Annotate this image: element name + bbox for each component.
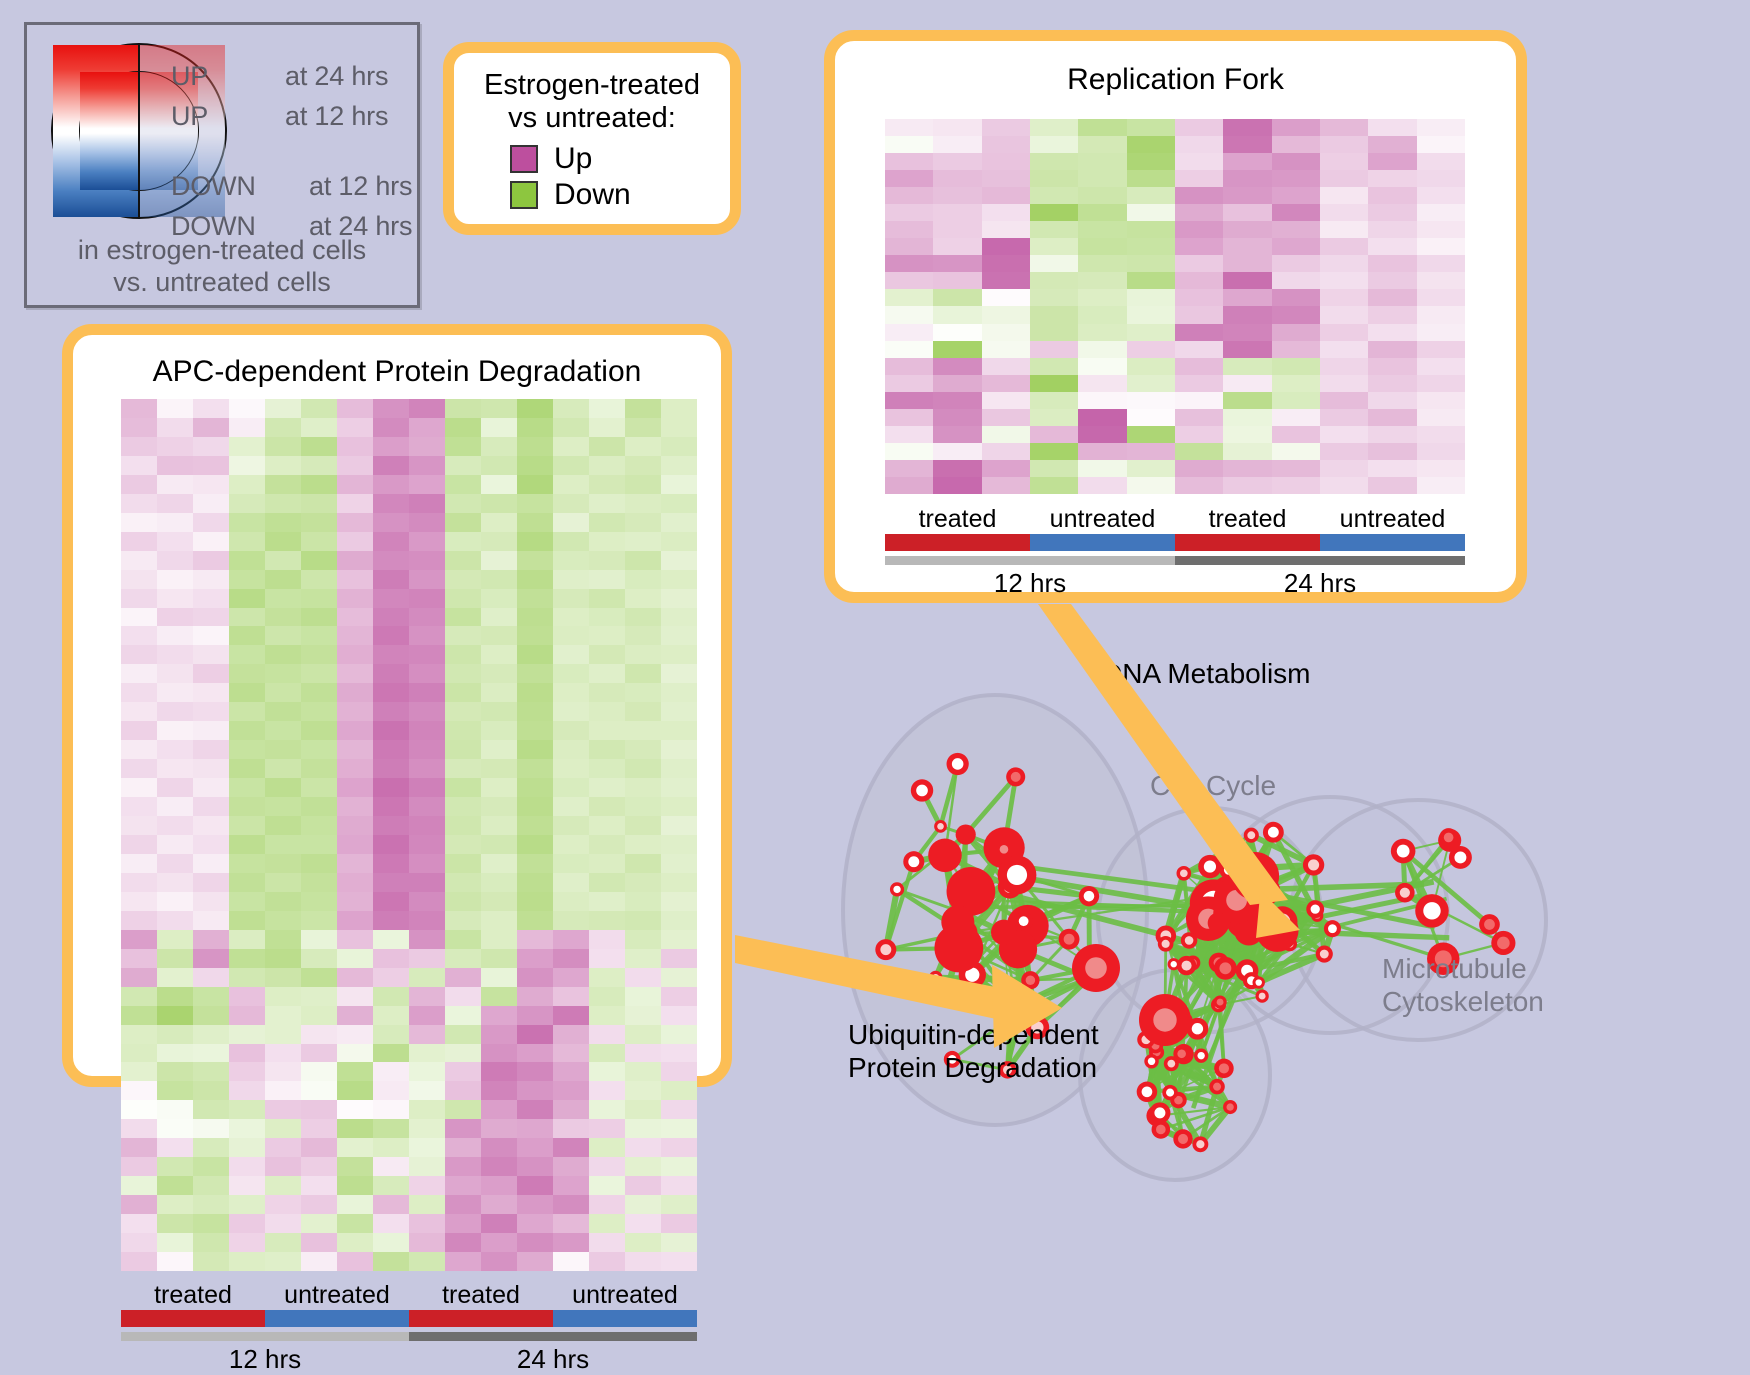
- heatmap-cell: [933, 426, 981, 443]
- heatmap-cell: [193, 1025, 229, 1044]
- heatmap-cell: [517, 740, 553, 759]
- heatmap-cell: [337, 1214, 373, 1233]
- heatmap-cell: [1078, 153, 1126, 170]
- heatmap-cell: [337, 835, 373, 854]
- heatmap-cell: [301, 1119, 337, 1138]
- heatmap-cell: [589, 532, 625, 551]
- heatmap-cell: [1175, 426, 1223, 443]
- heatmap-cell: [481, 702, 517, 721]
- heatmap-cell: [933, 221, 981, 238]
- heatmap-cell: [121, 570, 157, 589]
- heatmap-cell: [661, 1252, 697, 1271]
- heatmap-cell: [193, 1176, 229, 1195]
- heatmap-cell: [625, 778, 661, 797]
- heatmap-cell: [301, 608, 337, 627]
- heatmap-cell: [445, 1119, 481, 1138]
- heatmap-cell: [337, 1138, 373, 1157]
- heatmap-cell: [265, 494, 301, 513]
- heatmap-cell: [625, 664, 661, 683]
- heatmap-cell: [229, 456, 265, 475]
- heatmap-cell: [301, 437, 337, 456]
- heatmap-cell: [1223, 238, 1271, 255]
- heatmap-cell: [445, 949, 481, 968]
- heatmap-cell: [661, 570, 697, 589]
- heatmap-cell: [157, 532, 193, 551]
- axis-group-label: untreated: [265, 1281, 409, 1310]
- ub-line1: Ubiquitin-dependent: [848, 1018, 1099, 1051]
- heatmap-cell: [553, 513, 589, 532]
- heatmap-cell: [553, 1100, 589, 1119]
- heatmap-cell: [589, 1006, 625, 1025]
- heatmap-cell: [553, 437, 589, 456]
- heatmap-cell: [553, 930, 589, 949]
- heatmap-cell: [1320, 289, 1368, 306]
- heatmap-cell: [229, 702, 265, 721]
- heatmap-cell: [337, 1044, 373, 1063]
- heatmap-cell: [661, 1195, 697, 1214]
- heatmap-cell: [337, 1062, 373, 1081]
- heatmap-cell: [589, 664, 625, 683]
- heatmap-cell: [337, 532, 373, 551]
- heatmap-cell: [1417, 477, 1465, 494]
- heatmap-cell: [409, 873, 445, 892]
- wheel-legend-footer: in estrogen-treated cells vs. untreated …: [27, 235, 417, 299]
- heatmap-cell: [229, 949, 265, 968]
- heatmap-cell: [445, 570, 481, 589]
- heatmap-cell: [589, 1062, 625, 1081]
- heatmap-cell: [121, 721, 157, 740]
- heatmap-cell: [1417, 238, 1465, 255]
- heatmap-cell: [982, 392, 1030, 409]
- heatmap-cell: [1368, 341, 1416, 358]
- heatmap-cell: [301, 854, 337, 873]
- heatmap-cell: [589, 759, 625, 778]
- treatment-bar-segment: [1175, 534, 1320, 551]
- heatmap-cell: [373, 589, 409, 608]
- heatmap-cell: [193, 1214, 229, 1233]
- heatmap-cell: [121, 816, 157, 835]
- heatmap-cell: [553, 702, 589, 721]
- heatmap-cell: [1078, 375, 1126, 392]
- heatmap-cell: [445, 437, 481, 456]
- heatmap-cell: [517, 759, 553, 778]
- heatmap-cell: [301, 513, 337, 532]
- heatmap-cell: [1417, 324, 1465, 341]
- heatmap-cell: [409, 702, 445, 721]
- heatmap-cell: [409, 1044, 445, 1063]
- heatmap-cell: [121, 1119, 157, 1138]
- heatmap-cell: [625, 816, 661, 835]
- heatmap-cell: [121, 1062, 157, 1081]
- heatmap-cell: [481, 475, 517, 494]
- heatmap-cell: [481, 1025, 517, 1044]
- wheel-direction: UP: [171, 101, 208, 131]
- heatmap-cell: [301, 949, 337, 968]
- heatmap-cell: [193, 399, 229, 418]
- heatmap-cell: [445, 645, 481, 664]
- heatmap-cell: [301, 1138, 337, 1157]
- heatmap-cell: [1078, 255, 1126, 272]
- heatmap-cell: [301, 570, 337, 589]
- heatmap-cell: [409, 835, 445, 854]
- heatmap-cell: [661, 589, 697, 608]
- heatmap-cell: [661, 437, 697, 456]
- heatmap-cell: [517, 797, 553, 816]
- heatmap-cell: [265, 1252, 301, 1271]
- heatmap-cell: [517, 1157, 553, 1176]
- heatmap-cell: [157, 418, 193, 437]
- heatmap-cell: [1320, 204, 1368, 221]
- heatmap-cell: [661, 778, 697, 797]
- heatmap-cell: [553, 797, 589, 816]
- heatmap-cell: [373, 721, 409, 740]
- heatmap-cell: [1320, 221, 1368, 238]
- heatmap-cell: [553, 1044, 589, 1063]
- heatmap-cell: [625, 551, 661, 570]
- heatmap-cell: [373, 759, 409, 778]
- wheel-divider: [138, 43, 140, 219]
- heatmap-cell: [229, 589, 265, 608]
- heatmap-cell: [1030, 153, 1078, 170]
- heatmap-cell: [661, 797, 697, 816]
- wheel-direction: DOWN: [171, 171, 256, 201]
- heatmap-cell: [121, 759, 157, 778]
- heatmap-cell: [1320, 409, 1368, 426]
- heatmap-cell: [445, 664, 481, 683]
- heatmap-cell: [1030, 204, 1078, 221]
- heatmap-cell: [661, 608, 697, 627]
- heatmap-cell: [1417, 204, 1465, 221]
- heatmap-cell: [661, 892, 697, 911]
- heatmap-cell: [265, 645, 301, 664]
- heatmap-cell: [982, 426, 1030, 443]
- heatmap-cell: [193, 1157, 229, 1176]
- heatmap-cell: [1127, 409, 1175, 426]
- heatmap-cell: [625, 1138, 661, 1157]
- heatmap-cell: [589, 1100, 625, 1119]
- heatmap-cell: [337, 494, 373, 513]
- heatmap-cell: [301, 399, 337, 418]
- heatmap-cell: [121, 608, 157, 627]
- heatmap-cell: [1030, 255, 1078, 272]
- heatmap-cell: [337, 778, 373, 797]
- heatmap-cell: [121, 740, 157, 759]
- heatmap-cell: [121, 1195, 157, 1214]
- heatmap-cell: [661, 816, 697, 835]
- heatmap-cell: [1320, 136, 1368, 153]
- heatmap-cell: [589, 1252, 625, 1271]
- heatmap-cell: [589, 949, 625, 968]
- heatmap-cell: [553, 1157, 589, 1176]
- heatmap-cell: [121, 1138, 157, 1157]
- heatmap-cell: [517, 570, 553, 589]
- heatmap-cell: [157, 1006, 193, 1025]
- heatmap-cell: [1417, 358, 1465, 375]
- heatmap-cell: [1417, 289, 1465, 306]
- heatmap-cell: [553, 645, 589, 664]
- heatmap-cell: [517, 702, 553, 721]
- heatmap-cell: [1175, 324, 1223, 341]
- heatmap-cell: [229, 987, 265, 1006]
- replication-fork-heatmap: [885, 119, 1465, 494]
- heatmap-cell: [409, 475, 445, 494]
- heatmap-cell: [933, 477, 981, 494]
- heatmap-cell: [229, 930, 265, 949]
- heatmap-cell: [625, 399, 661, 418]
- heatmap-cell: [229, 626, 265, 645]
- heatmap-cell: [157, 911, 193, 930]
- heatmap-cell: [625, 968, 661, 987]
- heatmap-cell: [481, 1062, 517, 1081]
- heatmap-cell: [661, 1006, 697, 1025]
- heatmap-cell: [265, 1138, 301, 1157]
- heatmap-cell: [933, 341, 981, 358]
- heatmap-cell: [1368, 477, 1416, 494]
- heatmap-cell: [661, 645, 697, 664]
- heatmap-cell: [1078, 426, 1126, 443]
- heatmap-cell: [301, 892, 337, 911]
- heatmap-cell: [589, 873, 625, 892]
- heatmap-cell: [373, 1100, 409, 1119]
- heatmap-cell: [229, 854, 265, 873]
- heatmap-cell: [157, 1119, 193, 1138]
- heatmap-cell: [301, 702, 337, 721]
- heatmap-cell: [481, 608, 517, 627]
- heatmap-cell: [661, 399, 697, 418]
- heatmap-cell: [229, 1025, 265, 1044]
- heatmap-cell: [1368, 170, 1416, 187]
- heatmap-cell: [121, 949, 157, 968]
- heatmap-cell: [1127, 153, 1175, 170]
- heatmap-cell: [481, 418, 517, 437]
- heatmap-cell: [517, 418, 553, 437]
- heatmap-cell: [409, 570, 445, 589]
- heatmap-cell: [337, 664, 373, 683]
- heatmap-cell: [193, 1195, 229, 1214]
- heatmap-cell: [337, 949, 373, 968]
- axis-group-label: treated: [885, 505, 1030, 534]
- heatmap-cell: [265, 626, 301, 645]
- heatmap-cell: [1175, 221, 1223, 238]
- heatmap-cell: [265, 892, 301, 911]
- heatmap-cell: [481, 437, 517, 456]
- heatmap-cell: [481, 1081, 517, 1100]
- heatmap-cell: [481, 1176, 517, 1195]
- heatmap-cell: [373, 1062, 409, 1081]
- heatmap-cell: [373, 911, 409, 930]
- heatmap-cell: [982, 341, 1030, 358]
- heatmap-cell: [933, 324, 981, 341]
- heatmap-cell: [481, 987, 517, 1006]
- heatmap-cell: [589, 570, 625, 589]
- wheel-time: at 12 hrs: [309, 171, 412, 202]
- heatmap-cell: [193, 892, 229, 911]
- treatment-bar-segment: [265, 1310, 409, 1327]
- heatmap-cell: [885, 477, 933, 494]
- heatmap-cell: [121, 551, 157, 570]
- heatmap-cell: [373, 873, 409, 892]
- heatmap-cell: [625, 930, 661, 949]
- heatmap-cell: [157, 1214, 193, 1233]
- heatmap-cell: [517, 513, 553, 532]
- heatmap-cell: [553, 1025, 589, 1044]
- heatmap-cell: [301, 873, 337, 892]
- heatmap-cell: [265, 589, 301, 608]
- heatmap-cell: [589, 740, 625, 759]
- heatmap-cell: [589, 1044, 625, 1063]
- heatmap-cell: [229, 399, 265, 418]
- key-panel-title: Estrogen-treated vs untreated:: [454, 69, 730, 136]
- heatmap-cell: [517, 968, 553, 987]
- heatmap-cell: [589, 418, 625, 437]
- heatmap-cell: [625, 1214, 661, 1233]
- heatmap-cell: [121, 589, 157, 608]
- heatmap-cell: [373, 551, 409, 570]
- heatmap-cell: [265, 418, 301, 437]
- heatmap-cell: [481, 570, 517, 589]
- heatmap-cell: [517, 608, 553, 627]
- heatmap-cell: [445, 911, 481, 930]
- heatmap-cell: [337, 816, 373, 835]
- heatmap-cell: [265, 835, 301, 854]
- heatmap-cell: [481, 778, 517, 797]
- heatmap-cell: [337, 399, 373, 418]
- heatmap-cell: [409, 1157, 445, 1176]
- heatmap-cell: [553, 1233, 589, 1252]
- heatmap-cell: [157, 456, 193, 475]
- heatmap-cell: [373, 1195, 409, 1214]
- heatmap-cell: [1078, 272, 1126, 289]
- heatmap-cell: [157, 608, 193, 627]
- heatmap-cell: [121, 532, 157, 551]
- cluster-label-dna-metabolism: DNA Metabolism: [1102, 658, 1311, 690]
- heatmap-cell: [409, 664, 445, 683]
- heatmap-cell: [553, 949, 589, 968]
- heatmap-cell: [265, 475, 301, 494]
- heatmap-cell: [229, 570, 265, 589]
- heatmap-cell: [157, 797, 193, 816]
- heatmap-cell: [157, 475, 193, 494]
- heatmap-cell: [337, 418, 373, 437]
- heatmap-cell: [121, 626, 157, 645]
- heatmap-cell: [481, 930, 517, 949]
- heatmap-cell: [982, 306, 1030, 323]
- heatmap-cell: [121, 645, 157, 664]
- heatmap-cell: [481, 911, 517, 930]
- heatmap-cell: [337, 911, 373, 930]
- heatmap-cell: [481, 721, 517, 740]
- heatmap-cell: [409, 399, 445, 418]
- heatmap-cell: [193, 589, 229, 608]
- heatmap-cell: [661, 702, 697, 721]
- heatmap-cell: [517, 1081, 553, 1100]
- heatmap-cell: [661, 1100, 697, 1119]
- up-down-key-panel: Estrogen-treated vs untreated: Up Down: [443, 42, 741, 235]
- heatmap-cell: [193, 949, 229, 968]
- axis-group-label: untreated: [1030, 505, 1175, 534]
- heatmap-cell: [157, 1081, 193, 1100]
- apc-degradation-panel: APC-dependent Protein Degradation treate…: [62, 324, 732, 1087]
- heatmap-cell: [193, 475, 229, 494]
- heatmap-cell: [1272, 289, 1320, 306]
- heatmap-cell: [517, 721, 553, 740]
- heatmap-cell: [445, 873, 481, 892]
- heatmap-cell: [933, 119, 981, 136]
- heatmap-cell: [625, 835, 661, 854]
- heatmap-cell: [1175, 187, 1223, 204]
- heatmap-cell: [445, 626, 481, 645]
- heatmap-cell: [193, 835, 229, 854]
- heatmap-cell: [445, 759, 481, 778]
- heatmap-cell: [625, 456, 661, 475]
- heatmap-cell: [193, 987, 229, 1006]
- heatmap-cell: [445, 721, 481, 740]
- heatmap-cell: [481, 892, 517, 911]
- heatmap-cell: [337, 1119, 373, 1138]
- heatmap-cell: [229, 494, 265, 513]
- heatmap-cell: [193, 1119, 229, 1138]
- heatmap-cell: [373, 1233, 409, 1252]
- heatmap-cell: [193, 1062, 229, 1081]
- heatmap-cell: [1320, 375, 1368, 392]
- heatmap-cell: [982, 289, 1030, 306]
- heatmap-cell: [265, 456, 301, 475]
- heatmap-cell: [121, 683, 157, 702]
- heatmap-cell: [1030, 477, 1078, 494]
- heatmap-cell: [661, 1233, 697, 1252]
- heatmap-cell: [1175, 170, 1223, 187]
- heatmap-cell: [625, 1100, 661, 1119]
- heatmap-cell: [409, 626, 445, 645]
- heatmap-cell: [885, 187, 933, 204]
- heatmap-cell: [1368, 187, 1416, 204]
- heatmap-cell: [229, 778, 265, 797]
- heatmap-cell: [1127, 221, 1175, 238]
- heatmap-cell: [885, 358, 933, 375]
- heatmap-cell: [1127, 341, 1175, 358]
- heatmap-cell: [301, 1176, 337, 1195]
- heatmap-cell: [301, 930, 337, 949]
- heatmap-cell: [409, 740, 445, 759]
- heatmap-cell: [1272, 392, 1320, 409]
- heatmap-cell: [229, 740, 265, 759]
- heatmap-cell: [121, 911, 157, 930]
- heatmap-cell: [265, 570, 301, 589]
- heatmap-cell: [625, 1119, 661, 1138]
- heatmap-cell: [229, 1176, 265, 1195]
- heatmap-cell: [1272, 119, 1320, 136]
- heatmap-cell: [373, 1044, 409, 1063]
- heatmap-cell: [337, 475, 373, 494]
- heatmap-cell: [121, 664, 157, 683]
- heatmap-cell: [625, 418, 661, 437]
- heatmap-cell: [589, 911, 625, 930]
- cluster-label-cell-cycle: Cell Cycle: [1150, 770, 1276, 802]
- heatmap-cell: [1030, 187, 1078, 204]
- heatmap-cell: [982, 460, 1030, 477]
- heatmap-cell: [1078, 341, 1126, 358]
- heatmap-cell: [661, 1062, 697, 1081]
- time-bar-segment: [409, 1332, 697, 1341]
- heatmap-cell: [121, 1252, 157, 1271]
- heatmap-cell: [301, 683, 337, 702]
- heatmap-cell: [625, 949, 661, 968]
- wheel-footer-line1: in estrogen-treated cells: [27, 235, 417, 267]
- timepoint-colour-bar: [885, 556, 1465, 565]
- heatmap-cell: [982, 375, 1030, 392]
- heatmap-cell: [517, 1195, 553, 1214]
- heatmap-cell: [229, 759, 265, 778]
